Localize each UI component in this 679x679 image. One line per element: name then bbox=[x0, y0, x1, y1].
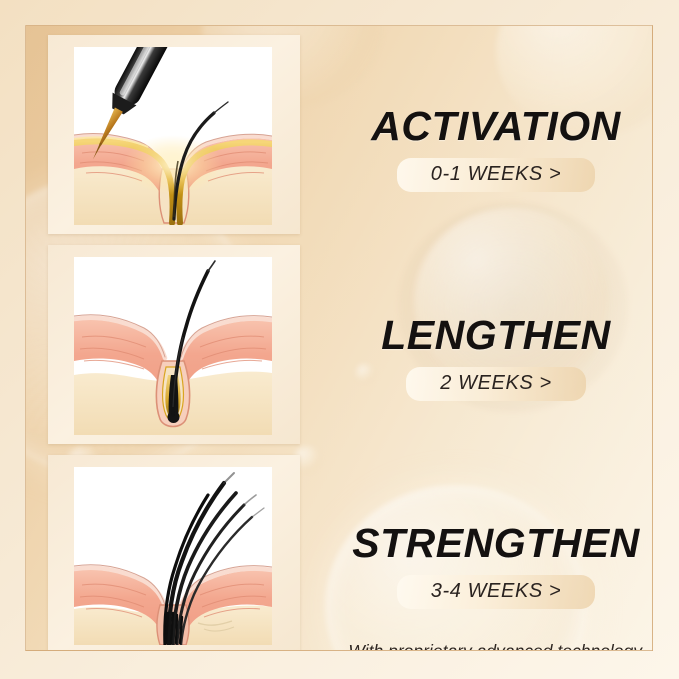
step-activation-heading: ACTIVATION bbox=[312, 106, 653, 148]
step-strengthen: STRENGTHEN 3-4 WEEKS > bbox=[312, 523, 653, 609]
infographic-canvas: ACTIVATION 0-1 WEEKS > LENGTHEN 2 WEEKS … bbox=[0, 0, 679, 679]
step-lengthen: LENGTHEN 2 WEEKS > bbox=[312, 315, 653, 401]
single-lash-growing-from-follicle-icon bbox=[74, 257, 272, 435]
illustration-card-strengthen bbox=[48, 455, 300, 651]
step-strengthen-duration-badge[interactable]: 3-4 WEEKS > bbox=[397, 575, 596, 609]
step-lengthen-heading: LENGTHEN bbox=[312, 315, 653, 357]
illustration-card-activation bbox=[48, 35, 300, 234]
tagline: With proprietary advanced technology, la… bbox=[311, 639, 653, 651]
step-activation: ACTIVATION 0-1 WEEKS > bbox=[312, 106, 653, 192]
applicator-applying-serum-to-follicle-icon bbox=[74, 47, 272, 225]
illustration-card-lengthen bbox=[48, 245, 300, 444]
gold-framed-panel: ACTIVATION 0-1 WEEKS > LENGTHEN 2 WEEKS … bbox=[25, 25, 653, 651]
illustration-card-column bbox=[48, 35, 300, 651]
step-lengthen-duration-badge[interactable]: 2 WEEKS > bbox=[406, 367, 586, 401]
multiple-lashes-from-follicle-icon bbox=[74, 467, 272, 645]
step-text-column: ACTIVATION 0-1 WEEKS > LENGTHEN 2 WEEKS … bbox=[312, 51, 653, 651]
step-activation-duration-badge[interactable]: 0-1 WEEKS > bbox=[397, 158, 596, 192]
tagline-line-1: With proprietary advanced technology, bbox=[311, 639, 653, 651]
step-strengthen-heading: STRENGTHEN bbox=[312, 523, 653, 565]
